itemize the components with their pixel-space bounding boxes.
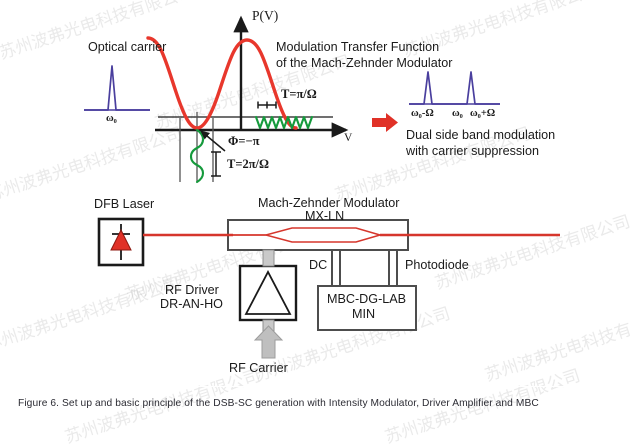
rf-carrier-label: RF Carrier (229, 361, 288, 376)
dsbsc-description-line1: Dual side band modulation (406, 128, 555, 143)
rf-driver-amplifier-box (240, 250, 296, 334)
dsbsc-output-spectrum (409, 72, 500, 104)
mbc-label-line2: MIN (352, 307, 375, 322)
input-period-label: T=2π/Ω (227, 157, 269, 172)
sideband-lower-label: ω₀-Ω (411, 108, 434, 120)
output-period-ticks (258, 102, 276, 109)
figure-caption: Figure 6. Set up and basic principle of … (18, 398, 618, 409)
mbc-label-line1: MBC-DG-LAB (327, 292, 406, 307)
transfer-function-title-line1: Modulation Transfer Function (276, 40, 439, 55)
photodiode-connection-lines (389, 250, 397, 286)
rf-carrier-input-arrow (255, 326, 282, 358)
carrier-frequency-label: ω₀ (106, 113, 117, 125)
dfb-laser-box (99, 219, 143, 265)
photodiode-label: Photodiode (405, 258, 469, 273)
phase-shift-label: Φ=−π (228, 134, 259, 149)
optical-carrier-spectrum (84, 66, 150, 110)
figure-canvas: 苏州波弗光电科技有限公司 苏州波弗光电科技有限公司 苏州波弗光电科技有限公司 苏… (0, 0, 630, 424)
dc-label: DC (309, 258, 327, 273)
y-axis-label: P(V) (252, 8, 278, 24)
output-period-label: T=π/Ω (281, 87, 317, 102)
dfb-laser-label: DFB Laser (94, 197, 154, 212)
rf-driver-label-line1: RF Driver (165, 283, 219, 298)
sideband-upper-label: ω₀+Ω (470, 108, 495, 120)
sideband-center-label: ω₀ (452, 108, 463, 120)
optical-carrier-label: Optical carrier (88, 40, 166, 55)
transfer-function-title-line2: of the Mach-Zehnder Modulator (276, 56, 452, 71)
dsbsc-description-line2: with carrier suppression (406, 144, 539, 159)
caption-divider (0, 386, 630, 387)
dc-connection-lines (332, 250, 340, 286)
mzm-label-line2: MX-LN (305, 209, 344, 224)
rf-driver-label-line2: DR-AN-HO (160, 297, 223, 312)
x-axis-label: V (344, 132, 352, 146)
flow-arrow-icon (372, 113, 398, 132)
modulation-transfer-curve (148, 38, 296, 128)
